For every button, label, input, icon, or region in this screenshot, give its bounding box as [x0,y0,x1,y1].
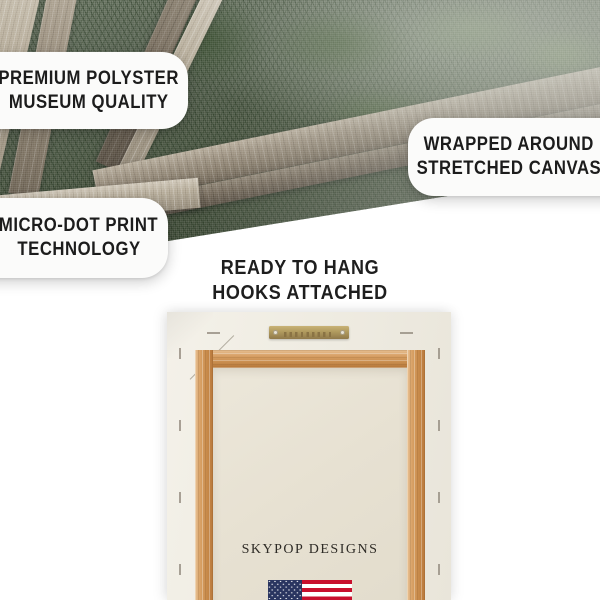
flag-canton [268,580,302,600]
hanger-screw-hole-right [340,330,345,335]
staple [438,564,440,575]
heading-line-1: READY TO HANG [30,256,570,281]
united-states-flag [268,580,352,600]
stretcher-bar-top [195,350,425,368]
staple [400,332,413,334]
ready-to-hang-heading: READY TO HANG HOOKS ATTACHED [0,256,600,306]
staple [179,420,181,431]
staple [207,332,220,334]
stretcher-bar-left [195,350,213,600]
product-marketing-image: PREMIUM POLYSTER MUSEUM QUALITY WRAPPED … [0,0,600,600]
canvas-back-panel: SKYPOP DESIGNS [213,368,407,600]
feature-badge-wrapped-around: WRAPPED AROUND STRETCHED CANVAS [408,118,600,196]
staple [179,492,181,503]
brand-label: SKYPOP DESIGNS [213,542,407,558]
staple [179,348,181,359]
sawtooth-hanger-hardware [269,326,349,339]
staple [438,420,440,431]
hanger-screw-hole-left [273,330,278,335]
badge-line-1: WRAPPED AROUND [424,133,594,157]
badge-line-2: STRETCHED CANVAS [417,157,600,181]
stretcher-bar-right [407,350,425,600]
staple [438,492,440,503]
staple [438,348,440,359]
flag-stars [268,580,302,600]
badge-line-1: MICRO-DOT PRINT [0,214,159,238]
feature-badge-premium-polyster: PREMIUM POLYSTER MUSEUM QUALITY [0,52,188,129]
stretched-canvas-back: SKYPOP DESIGNS [167,312,451,600]
staple [179,564,181,575]
heading-line-2: HOOKS ATTACHED [30,281,570,306]
badge-line-1: PREMIUM POLYSTER [0,67,179,91]
hanger-sawtooth-strip [284,332,334,337]
badge-line-2: MUSEUM QUALITY [9,91,169,115]
